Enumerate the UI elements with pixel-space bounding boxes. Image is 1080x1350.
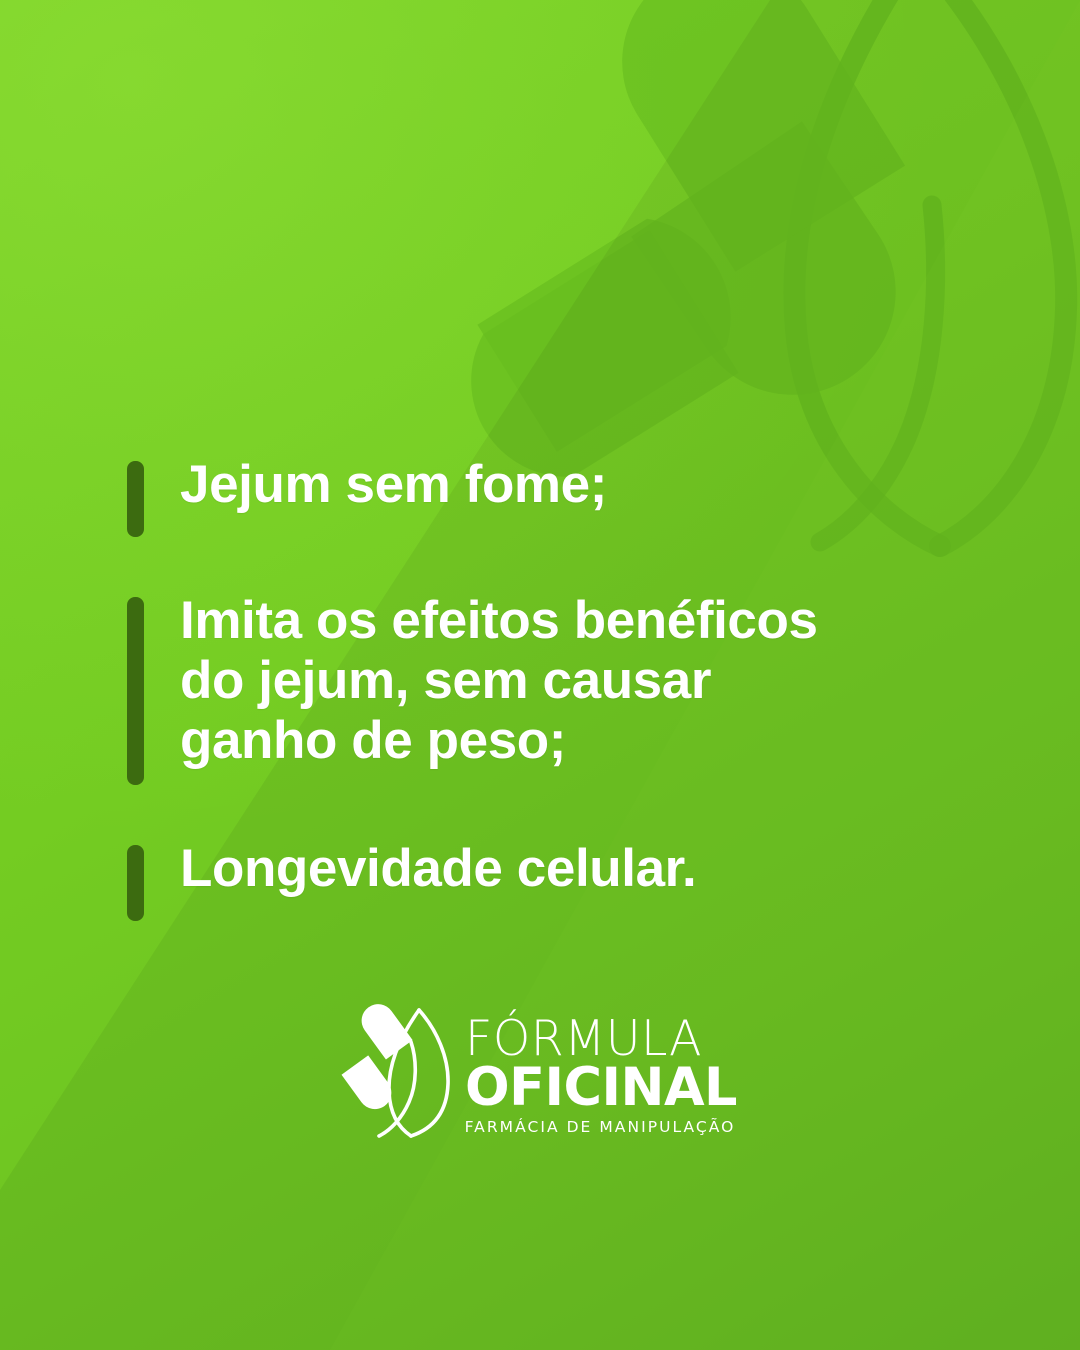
list-item-label: Longevidade celular. — [144, 839, 1007, 927]
benefits-list: Jejum sem fome; Imita os efeitos benéfic… — [127, 455, 1007, 927]
list-item-label: Jejum sem fome; — [144, 455, 1007, 543]
list-item-label: Imita os efeitos benéficos do jejum, sem… — [144, 591, 1007, 791]
list-item: Imita os efeitos benéficos do jejum, sem… — [127, 591, 1007, 791]
brand-wordmark: FÓRMULA OFICINAL FARMÁCIA DE MANIPULAÇÃO — [465, 1008, 740, 1135]
brand-logo: FÓRMULA OFICINAL FARMÁCIA DE MANIPULAÇÃO — [0, 1004, 1080, 1140]
brand-name-primary: FÓRMULA — [465, 1016, 732, 1061]
brand-tagline: FARMÁCIA DE MANIPULAÇÃO — [465, 1120, 740, 1136]
poster-canvas: Jejum sem fome; Imita os efeitos benéfic… — [0, 0, 1080, 1350]
bullet-accent-bar — [127, 461, 144, 537]
bullet-accent-bar — [127, 845, 144, 921]
list-item: Longevidade celular. — [127, 839, 1007, 927]
brand-name-secondary: OFICINAL — [465, 1063, 737, 1113]
bullet-accent-bar — [127, 597, 144, 785]
list-item: Jejum sem fome; — [127, 455, 1007, 543]
capsule-leaf-icon — [341, 1004, 459, 1140]
